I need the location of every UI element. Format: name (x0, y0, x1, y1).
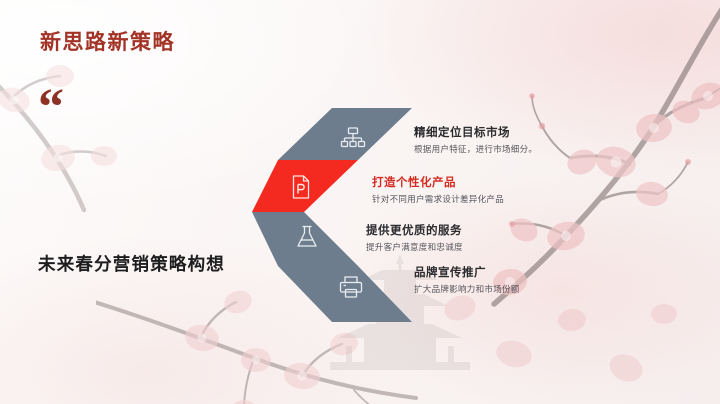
list-item-title: 打造个性化产品 (372, 174, 504, 190)
list-item[interactable]: 提供更优质的服务 提升客户满意度和忠诚度 (366, 222, 463, 253)
list-item[interactable]: 品牌宣传推广 扩大品牌影响力和市场份额 (414, 264, 520, 295)
list-item-description: 根据用户特征，进行市场细分。 (414, 143, 537, 155)
list-item-title: 品牌宣传推广 (414, 264, 520, 280)
list-item-title: 提供更优质的服务 (366, 222, 463, 238)
slide-canvas: 新思路新策略 “ 未来春分营销策略构想 (0, 0, 720, 404)
list-item-description: 针对不同用户需求设计差异化产品 (372, 193, 504, 205)
strategy-item-list: 精细定位目标市场 根据用户特征，进行市场细分。 打造个性化产品 针对不同用户需求… (0, 0, 720, 404)
list-item-description: 提升客户满意度和忠诚度 (366, 241, 463, 253)
list-item-title: 精细定位目标市场 (414, 124, 537, 140)
list-item-description: 扩大品牌影响力和市场份额 (414, 283, 520, 295)
list-item[interactable]: 精细定位目标市场 根据用户特征，进行市场细分。 (414, 124, 537, 155)
list-item[interactable]: 打造个性化产品 针对不同用户需求设计差异化产品 (372, 174, 504, 205)
